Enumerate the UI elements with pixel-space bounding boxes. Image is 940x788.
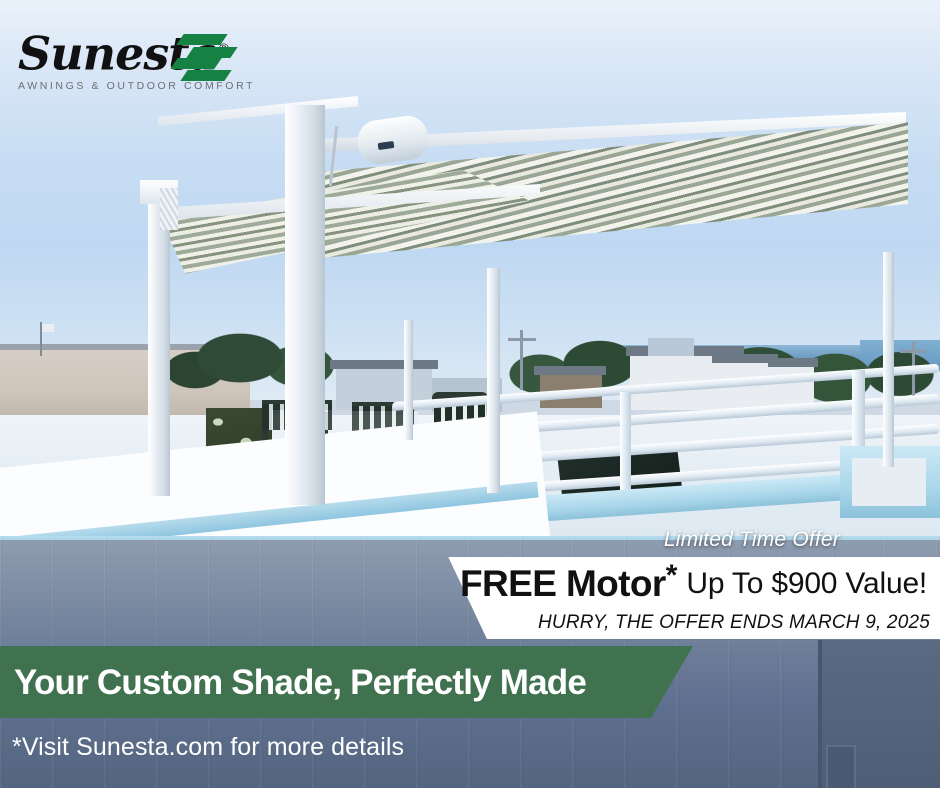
offer-headline-value: Up To $900 Value! <box>686 567 927 601</box>
logo-bar-3 <box>170 58 221 69</box>
coastal-house-right <box>772 364 814 406</box>
midground-building-roof <box>330 360 438 369</box>
pergola-post-right <box>883 252 894 467</box>
coastal-house-dormer <box>648 338 694 356</box>
logo-bar-4 <box>180 70 231 81</box>
sunesta-promotional-ad: Sunesta® AWNINGS & OUTDOOR COMFORT Limit… <box>0 0 940 788</box>
offer-headline-bold: FREE Motor <box>460 563 666 605</box>
logo-green-bars-mark <box>170 32 246 86</box>
utility-pole-right-crossarm <box>900 350 926 353</box>
flag <box>42 324 54 332</box>
right-wall-window-frame <box>826 745 856 788</box>
pergola-post-center <box>487 268 500 493</box>
limited-time-offer-eyebrow: Limited Time Offer <box>560 528 840 552</box>
logo-bar-2 <box>186 47 237 58</box>
sunesta-logo[interactable]: Sunesta® AWNINGS & OUTDOOR COMFORT <box>18 24 248 104</box>
pergola-post-front-left <box>285 105 325 505</box>
utility-pole-left-crossarm <box>508 338 536 341</box>
disclaimer-text: *Visit Sunesta.com for more details <box>12 733 612 762</box>
tagline-text: Your Custom Shade, Perfectly Made <box>14 655 674 711</box>
pergola-post-far-left <box>148 196 170 496</box>
coastal-house-tan-roof <box>534 366 606 375</box>
logo-bar-1 <box>176 34 227 45</box>
pergola-cable-bundle <box>160 188 178 230</box>
offer-headline: FREE Motor*Up To $900 Value! <box>460 562 930 606</box>
right-foreground-wall-edge <box>818 640 822 788</box>
coastal-house-right-roof <box>768 358 818 367</box>
offer-deadline: HURRY, THE OFFER ENDS MARCH 9, 2025 <box>460 612 930 634</box>
pergola-post-rear <box>404 320 413 440</box>
